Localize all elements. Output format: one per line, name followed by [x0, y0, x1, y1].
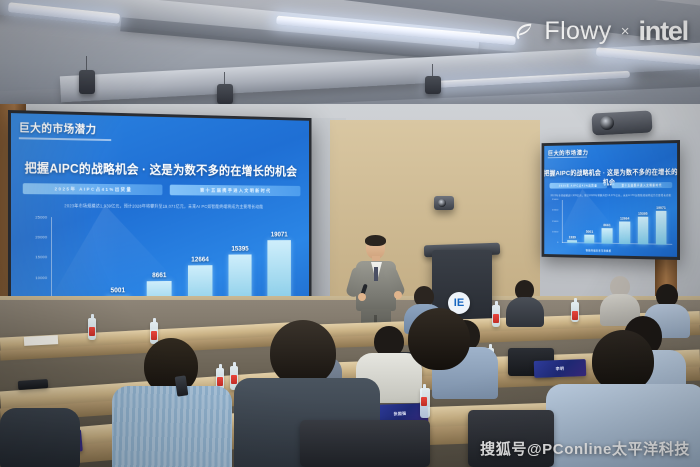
bar-group: 8661 — [600, 200, 614, 244]
bar-value: 5001 — [110, 287, 125, 294]
slide-pill-2: 第十五届携手进入文明新时代 — [612, 182, 673, 188]
slide-pill-row: 2025年 AIPC占41%出货量 第十五届携手进入文明新时代 — [23, 183, 301, 196]
bar-value: 12664 — [620, 217, 629, 221]
ceiling-speaker — [79, 70, 95, 94]
y-tick: 25000 — [35, 215, 47, 220]
audience-member-foreground — [0, 408, 80, 467]
bar — [619, 222, 630, 244]
bar-value: 12664 — [191, 256, 209, 263]
paper-sheet — [24, 335, 58, 346]
y-tick: 15000 — [35, 255, 47, 260]
slide-pill-1: 2025年 AIPC占41%出货量 — [550, 183, 608, 189]
presenter-tie — [374, 267, 378, 281]
person-torso — [0, 408, 80, 467]
chart-axis-line-vertical — [562, 200, 563, 243]
brand-primary-label: Flowy — [544, 17, 611, 46]
watermark: 搜狐号@PConline太平洋科技 — [480, 438, 690, 459]
brand-overlay: Flowy × intel — [513, 16, 688, 47]
chart-y-axis: 25000 20000 15000 10000 0 — [550, 200, 561, 243]
person-head — [270, 320, 336, 386]
y-tick: 10000 — [552, 231, 558, 233]
audience-member — [600, 276, 640, 320]
bar-value: 19071 — [271, 232, 288, 239]
ceiling-speaker — [217, 84, 233, 104]
slide-eyebrow-rule — [19, 137, 111, 141]
person-torso — [112, 386, 232, 467]
audience-member-foreground — [112, 338, 232, 467]
slide-pill-2: 第十五届携手进入文明新时代 — [170, 185, 301, 197]
slide-subnote: 2023年市场规模达1,939亿元，预计2028年将攀升至19,071亿元，未来… — [23, 203, 301, 210]
bar-value: 1939 — [569, 235, 576, 239]
brand-secondary-label: intel — [638, 16, 688, 47]
y-tick: 10000 — [35, 275, 47, 280]
camera-lens-icon — [438, 199, 446, 207]
bar-value: 5001 — [586, 230, 593, 234]
secondary-display-screen[interactable]: 巨大的市场潜力 把握AIPC的战略机会 · 这是为数不多的在增长的机会 2025… — [542, 140, 680, 260]
bar — [567, 240, 577, 244]
y-tick: 0 — [557, 242, 558, 244]
presenter-right-hand — [394, 291, 402, 299]
person-head — [408, 308, 470, 370]
y-tick: 20000 — [35, 235, 47, 240]
slide-title: 把握AIPC的战略机会 · 这是为数不多的在增长的机会 — [11, 157, 309, 179]
bar — [602, 229, 612, 244]
slide-pill-row: 2025年 AIPC占41%出货量 第十五届携手进入文明新时代 — [550, 182, 673, 189]
conference-room-photo: 巨大的市场潜力 把握AIPC的战略机会 · 这是为数不多的在增长的机会 2025… — [0, 0, 700, 467]
water-bottle — [571, 302, 579, 322]
ceiling-speaker — [425, 76, 441, 94]
bar-value: 8661 — [152, 272, 166, 279]
leaf-icon — [513, 20, 535, 44]
slide-pill-1: 2025年 AIPC占41%出货量 — [23, 183, 163, 195]
y-tick: 20000 — [552, 210, 558, 212]
bar-group: 5001 — [583, 200, 597, 244]
slide-eyebrow-rule — [548, 157, 587, 159]
bar-group: 19071 — [654, 200, 668, 245]
projector-lens-icon — [600, 116, 614, 130]
presenter-left-hand — [358, 293, 366, 301]
chair — [300, 420, 430, 467]
bar-value: 15395 — [231, 246, 248, 253]
slide-eyebrow: 巨大的市场潜力 — [19, 119, 97, 137]
bar-value: 8661 — [603, 224, 610, 228]
y-tick: 25000 — [552, 199, 558, 201]
bar — [584, 235, 594, 244]
y-tick: 15000 — [552, 220, 558, 222]
brand-separator-icon: × — [621, 23, 630, 40]
bar-chart: 25000 20000 15000 10000 0 1939 5001 8661… — [550, 200, 672, 254]
bar — [656, 211, 667, 245]
presentation-slide-mirror: 巨大的市场潜力 把握AIPC的战略机会 · 这是为数不多的在增长的机会 2025… — [543, 142, 678, 258]
bar-group: 1939 — [566, 200, 579, 243]
bar — [637, 217, 648, 244]
bar-group: 12664 — [618, 200, 632, 244]
chart-bars: 1939 5001 8661 12664 15395 19071 — [564, 200, 671, 245]
slide-subnote: 2023年市场规模达1,939亿元，预计2028年将攀升至19,071亿元，未来… — [550, 193, 673, 197]
chart-x-label: 智能终端未来市场规模 — [586, 248, 612, 252]
presenter-hair — [365, 235, 386, 246]
bar-value: 15395 — [638, 212, 647, 216]
water-bottle — [88, 318, 96, 340]
person-head — [592, 330, 654, 392]
bar-group: 15395 — [636, 200, 650, 244]
bar-value: 19071 — [656, 206, 666, 210]
